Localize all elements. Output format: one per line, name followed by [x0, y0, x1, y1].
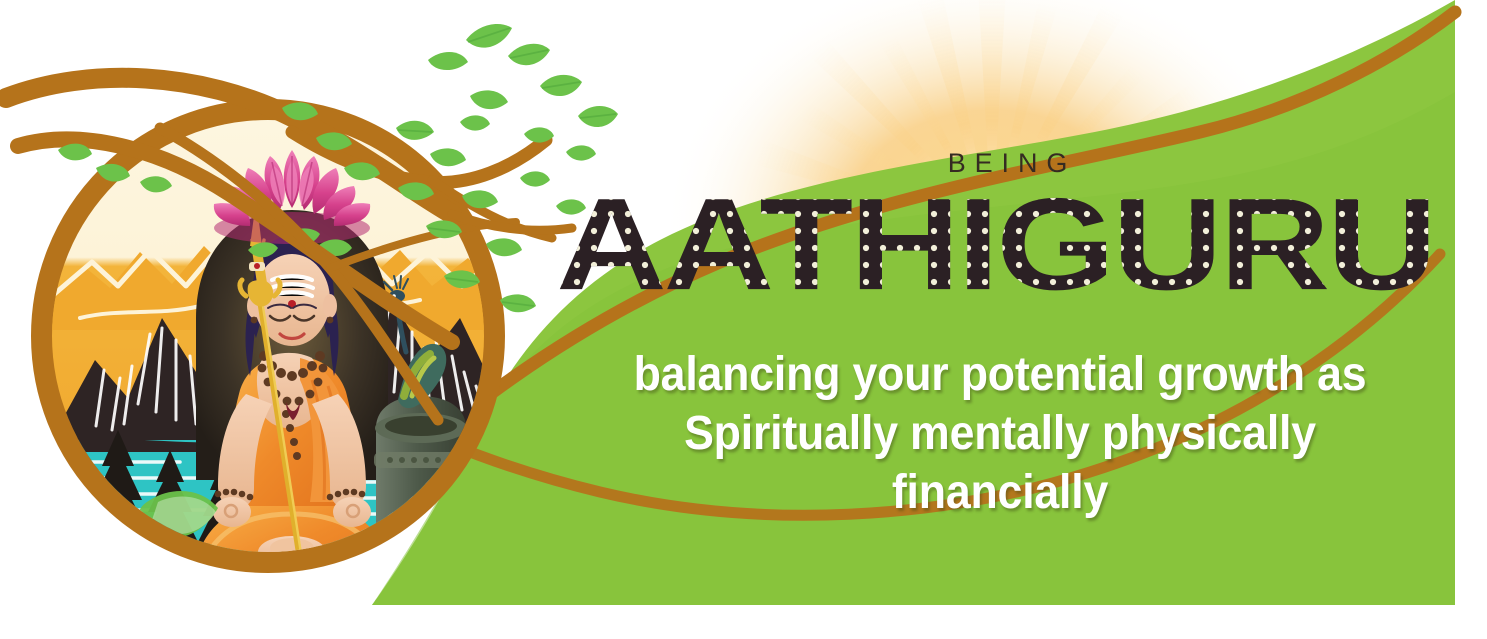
- brand-banner: BEING AATHIGURU AATHIGURU balancing your…: [0, 0, 1487, 639]
- tree-branch-overlay: [0, 0, 1487, 639]
- tree-branch: [6, 78, 572, 420]
